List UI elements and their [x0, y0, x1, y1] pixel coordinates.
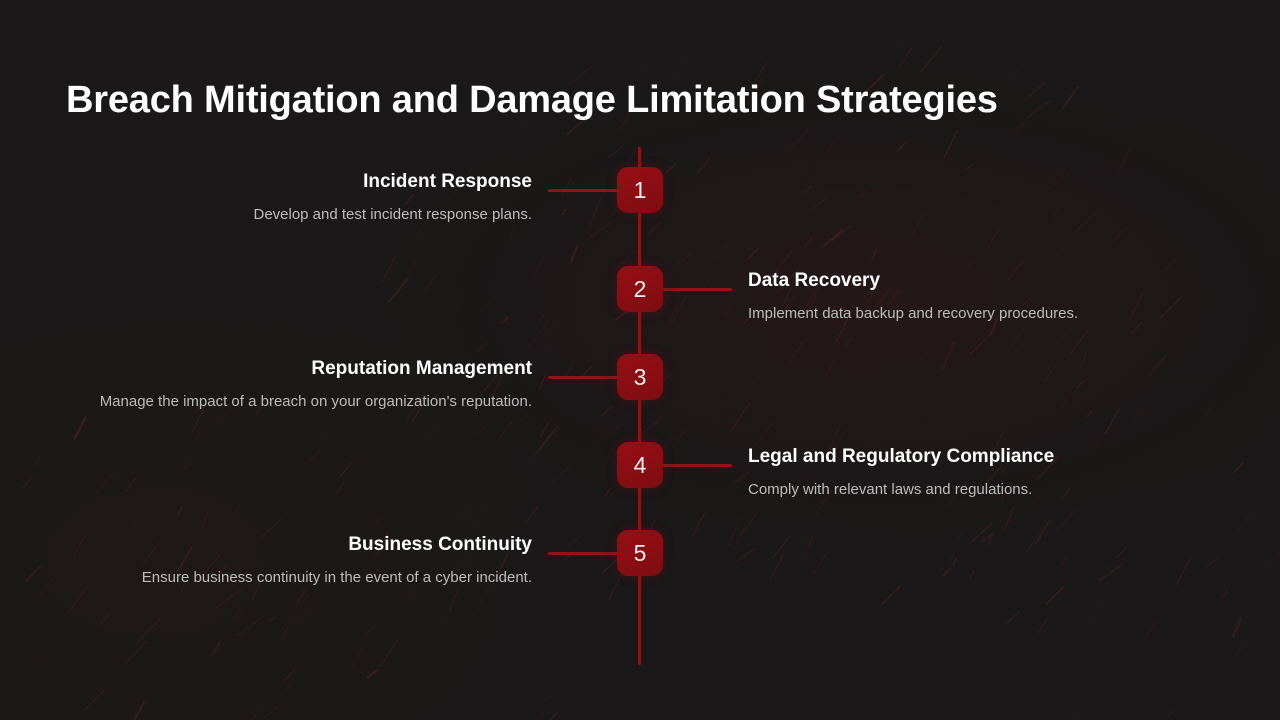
background-dash — [943, 130, 957, 158]
background-dash — [547, 712, 558, 720]
background-dash — [697, 157, 711, 174]
background-dash — [898, 229, 917, 251]
timeline-entry-description: Ensure business continuity in the event … — [82, 567, 532, 590]
background-dash — [287, 676, 295, 689]
background-dash — [831, 226, 850, 242]
timeline-entry-title: Data Recovery — [748, 269, 1198, 293]
background-dash — [1098, 160, 1113, 174]
background-dash — [1084, 410, 1093, 419]
background-dash — [898, 46, 912, 68]
background-dash — [532, 431, 553, 457]
background-dash — [283, 670, 295, 681]
background-dash — [473, 585, 489, 616]
background-dash — [672, 58, 685, 78]
background-dash — [1176, 557, 1191, 585]
background-dash — [531, 255, 544, 284]
timeline-entry-description: Comply with relevant laws and regulation… — [748, 479, 1198, 502]
background-dash — [525, 324, 547, 351]
background-dash — [541, 332, 557, 356]
background-dash — [787, 338, 806, 365]
background-dash — [133, 518, 137, 526]
background-dash — [155, 625, 162, 632]
background-dash — [611, 424, 620, 431]
background-dash — [1168, 708, 1176, 717]
background-dash — [562, 178, 572, 197]
background-dash — [1232, 616, 1243, 637]
background-dash — [897, 140, 908, 152]
background-dash — [1045, 521, 1053, 539]
background-dash — [593, 426, 621, 446]
background-dash — [1035, 519, 1051, 544]
background-dash — [68, 587, 87, 613]
background-dash — [882, 585, 902, 605]
background-dash — [1080, 353, 1086, 367]
background-dash — [920, 46, 942, 73]
timeline-entry-3: Reputation ManagementManage the impact o… — [82, 357, 532, 413]
background-dash — [262, 705, 279, 719]
timeline-entry-title: Legal and Regulatory Compliance — [748, 445, 1198, 469]
background-dash — [361, 624, 376, 638]
background-dash — [449, 588, 459, 611]
background-dash — [478, 342, 488, 351]
background-dash — [804, 185, 813, 194]
background-dash — [350, 643, 364, 670]
background-dash — [200, 512, 208, 531]
background-dash — [589, 194, 602, 226]
background-dash — [599, 420, 608, 437]
background-dash — [242, 710, 259, 720]
background-dash — [970, 332, 993, 355]
background-dash — [1061, 86, 1079, 110]
background-dash — [1111, 225, 1128, 242]
background-dash — [648, 220, 662, 234]
background-dash — [843, 338, 852, 347]
background-dash — [336, 481, 344, 495]
background-dash — [460, 506, 474, 520]
timeline-node-number: 5 — [634, 542, 647, 565]
background-dash — [1049, 172, 1070, 189]
background-dash — [750, 374, 763, 385]
timeline-entry-title: Incident Response — [82, 170, 532, 194]
background-dash — [233, 612, 242, 624]
background-dash — [538, 314, 545, 321]
background-dash — [928, 229, 936, 243]
background-dash — [25, 565, 42, 582]
background-dash — [1099, 564, 1124, 582]
background-dash — [969, 571, 974, 579]
background-dash — [379, 640, 397, 667]
background-dash — [801, 535, 810, 557]
background-dash — [594, 448, 602, 458]
timeline-entry-description: Develop and test incident response plans… — [82, 204, 532, 227]
background-dash — [691, 512, 705, 536]
background-dash — [1003, 35, 1013, 54]
background-dash — [35, 576, 57, 601]
background-dash — [608, 145, 624, 158]
background-dash — [569, 244, 578, 264]
background-dash — [561, 208, 567, 216]
background-dash — [770, 553, 785, 580]
background-dash — [603, 486, 612, 497]
background-dash — [1144, 619, 1156, 640]
background-dash — [1056, 508, 1078, 532]
background-dash — [484, 343, 491, 350]
background-dash — [1076, 378, 1087, 389]
background-dash — [777, 250, 793, 271]
background-dash — [987, 533, 994, 546]
background-dash — [381, 256, 395, 283]
background-dash — [1240, 555, 1248, 563]
background-dash — [365, 669, 377, 679]
background-dash — [1057, 328, 1073, 344]
background-dash — [725, 303, 733, 317]
background-dash — [544, 321, 558, 335]
background-dash — [236, 503, 241, 511]
background-dash — [539, 372, 547, 390]
background-dash — [857, 53, 864, 65]
background-dash — [1203, 404, 1213, 420]
background-dash — [182, 462, 191, 471]
timeline-entry-title: Reputation Management — [82, 357, 532, 381]
timeline-entry-description: Implement data backup and recovery proce… — [748, 303, 1198, 326]
background-dash — [237, 617, 264, 636]
timeline-spine — [638, 147, 641, 665]
background-dash — [22, 477, 32, 489]
background-dash — [568, 535, 583, 546]
background-dash — [1070, 703, 1077, 720]
background-dash — [136, 619, 160, 644]
background-dash — [1105, 409, 1119, 434]
background-dash — [1117, 147, 1131, 177]
background-dash — [1148, 355, 1166, 376]
background-dash — [281, 627, 288, 640]
background-dash — [130, 700, 146, 720]
background-dash — [771, 536, 790, 560]
background-dash — [942, 567, 952, 577]
timeline-entry-5: Business ContinuityEnsure business conti… — [82, 533, 532, 589]
background-dash — [540, 421, 549, 437]
slide-canvas: Breach Mitigation and Damage Limitation … — [0, 0, 1280, 720]
background-dash — [35, 456, 40, 467]
background-dash — [947, 547, 957, 567]
background-dash — [95, 472, 114, 495]
background-dash — [483, 301, 491, 308]
background-dash — [666, 163, 677, 172]
background-dash — [125, 477, 137, 492]
background-dash — [941, 341, 956, 372]
background-dash — [473, 502, 485, 531]
background-dash — [911, 212, 924, 237]
background-dash — [407, 587, 416, 603]
background-dash — [551, 464, 571, 484]
background-dash — [587, 220, 615, 240]
background-dash — [74, 416, 88, 440]
background-dash — [453, 289, 463, 313]
background-dash — [133, 592, 146, 608]
background-dash — [969, 259, 974, 267]
background-dash — [804, 157, 816, 181]
background-dash — [825, 350, 838, 379]
background-dash — [305, 450, 321, 465]
background-dash — [715, 379, 729, 406]
background-dash — [1116, 548, 1126, 558]
background-dash — [339, 461, 353, 477]
background-dash — [713, 241, 731, 261]
background-dash — [916, 410, 927, 425]
background-dash — [424, 417, 439, 438]
background-dash — [1060, 392, 1071, 411]
background-dash — [498, 420, 514, 440]
background-dash — [500, 316, 509, 325]
background-dash — [608, 574, 622, 600]
background-dash — [1269, 549, 1280, 565]
background-dash — [1232, 462, 1244, 474]
background-dash — [1073, 213, 1094, 234]
background-dash — [753, 421, 774, 448]
background-dash — [302, 592, 309, 604]
timeline-node-number: 2 — [634, 278, 647, 301]
background-dash — [494, 443, 511, 458]
background-dash — [599, 447, 614, 473]
background-dash — [1028, 100, 1050, 117]
background-dash — [602, 405, 612, 416]
background-dash — [804, 533, 817, 553]
background-dash — [964, 164, 972, 171]
timeline-connector-4 — [662, 464, 732, 467]
timeline-node-number: 3 — [634, 366, 647, 389]
timeline-node-3[interactable]: 3 — [617, 354, 663, 400]
background-dash — [607, 486, 620, 498]
background-dash — [1061, 555, 1067, 567]
background-dash — [741, 511, 759, 535]
background-dash — [402, 260, 416, 291]
background-dash — [969, 523, 993, 544]
background-dash — [675, 252, 693, 266]
background-dash — [733, 525, 747, 552]
background-dash — [99, 613, 109, 625]
background-dash — [811, 197, 828, 210]
background-dash — [717, 408, 730, 434]
background-dash — [1010, 326, 1026, 347]
background-dash — [1026, 528, 1044, 554]
background-dash — [566, 361, 573, 376]
background-dash — [525, 505, 539, 524]
background-dash — [1003, 506, 1014, 531]
background-dash — [1069, 330, 1087, 354]
background-dash — [1013, 112, 1034, 135]
background-dash — [727, 517, 741, 548]
background-dash — [812, 551, 829, 575]
background-dash — [431, 313, 449, 336]
background-dash — [424, 273, 437, 292]
background-dash — [778, 145, 787, 154]
timeline-node-5[interactable]: 5 — [617, 530, 663, 576]
background-dash — [1037, 620, 1047, 634]
background-dash — [439, 615, 447, 625]
background-dash — [1051, 204, 1059, 222]
background-dash — [1095, 423, 1112, 446]
background-dash — [1044, 365, 1056, 382]
background-dash — [296, 588, 308, 603]
background-dash — [826, 141, 833, 151]
timeline-node-4[interactable]: 4 — [617, 442, 663, 488]
background-dash — [790, 127, 809, 148]
timeline-entry-title: Business Continuity — [82, 533, 532, 557]
background-dash — [870, 249, 877, 261]
timeline-connector-2 — [662, 288, 732, 291]
page-title: Breach Mitigation and Damage Limitation … — [66, 79, 998, 122]
background-dash — [1005, 344, 1024, 358]
background-dash — [1155, 622, 1161, 630]
background-dash — [1223, 587, 1230, 598]
timeline-entry-4: Legal and Regulatory ComplianceComply wi… — [748, 445, 1198, 501]
background-dash — [125, 641, 148, 664]
background-dash — [952, 556, 957, 565]
background-dash — [476, 424, 488, 434]
background-dash — [823, 228, 844, 247]
background-dash — [1234, 645, 1243, 654]
background-dash — [539, 424, 560, 450]
background-dash — [311, 428, 332, 443]
background-dash — [1053, 165, 1068, 184]
background-dash — [1206, 557, 1219, 569]
background-dash — [194, 424, 204, 442]
background-dash — [38, 655, 42, 663]
background-dash — [913, 350, 932, 365]
timeline-connector-5 — [548, 552, 618, 555]
background-dash — [1132, 405, 1142, 425]
background-dash — [897, 39, 905, 51]
background-dash — [956, 533, 964, 540]
background-dash — [1044, 586, 1063, 605]
timeline-connector-3 — [548, 376, 618, 379]
background-dash — [1045, 361, 1054, 370]
background-dash — [504, 227, 514, 249]
background-dash — [373, 515, 381, 527]
background-dash — [1010, 63, 1026, 81]
background-dash — [545, 695, 552, 702]
background-dash — [1087, 599, 1104, 628]
timeline-node-number: 1 — [634, 179, 647, 202]
background-dash — [83, 689, 105, 711]
background-dash — [211, 640, 221, 656]
timeline-node-2[interactable]: 2 — [617, 266, 663, 312]
background-dash — [735, 547, 756, 563]
background-dash — [808, 536, 813, 547]
background-dash — [953, 500, 969, 520]
timeline-entry-description: Manage the impact of a breach on your or… — [82, 391, 532, 414]
background-dash — [388, 277, 409, 302]
timeline-entry-1: Incident ResponseDevelop and test incide… — [82, 170, 532, 226]
timeline-node-number: 4 — [634, 454, 647, 477]
background-dash — [638, 65, 649, 77]
background-dash — [986, 226, 1000, 250]
background-dash — [1102, 558, 1121, 573]
background-dash — [1234, 513, 1251, 537]
background-dash — [267, 616, 276, 623]
background-dash — [747, 247, 759, 259]
background-dash — [672, 428, 687, 448]
background-dash — [981, 531, 995, 542]
background-dash — [539, 709, 546, 720]
background-dash — [1048, 247, 1065, 262]
background-dash — [731, 402, 750, 430]
timeline-entry-2: Data RecoveryImplement data backup and r… — [748, 269, 1198, 325]
timeline-connector-1 — [548, 189, 618, 192]
background-dash — [934, 40, 945, 60]
background-dash — [402, 229, 413, 255]
background-dash — [1024, 81, 1047, 102]
background-dash — [804, 236, 813, 249]
background-dash — [860, 190, 866, 199]
background-dash — [669, 301, 679, 324]
background-dash — [739, 414, 749, 434]
background-dash — [672, 297, 686, 323]
background-dash — [234, 609, 240, 619]
background-dash — [291, 605, 317, 624]
background-dash — [176, 506, 183, 517]
background-dash — [709, 160, 717, 169]
timeline-node-1[interactable]: 1 — [617, 167, 663, 213]
background-dash — [215, 588, 242, 608]
background-dash — [516, 414, 528, 425]
background-dash — [1006, 611, 1020, 624]
